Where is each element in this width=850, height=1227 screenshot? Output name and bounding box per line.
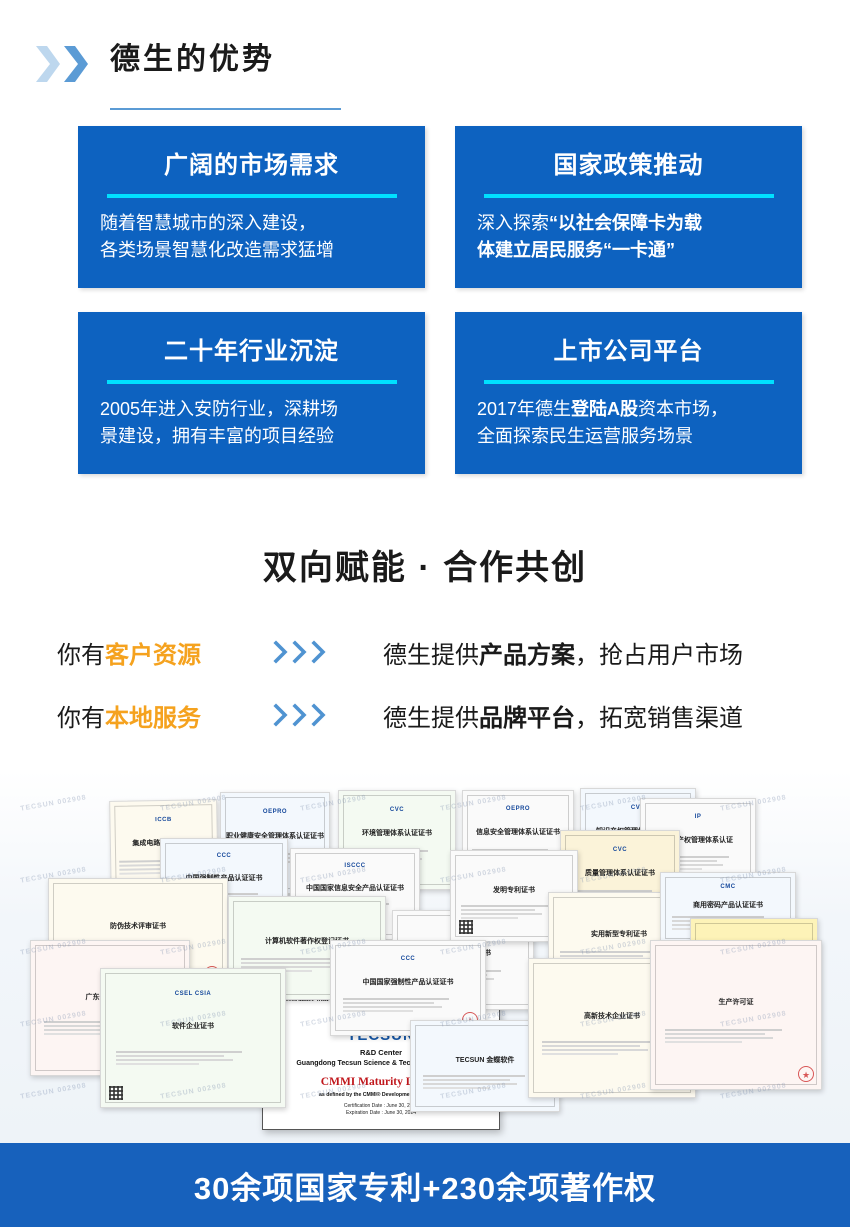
synergy-right-tail: ，拓宽销售渠道 [575,705,743,732]
certificate-body-lines [343,996,472,1014]
advantage-card-market-demand: 广阔的市场需求 随着智慧城市的深入建设， 各类场景智慧化改造需求猛增 [78,126,425,288]
card-body-line-2: 全面探索民生运营服务场景 [477,423,780,450]
certificate-seal-icon [798,1066,814,1082]
advantage-card-listed-company: 上市公司平台 2017年德生登陆A股资本市场， 全面探索民生运营服务场景 [455,312,802,474]
certificate-badge: CVC [390,807,404,813]
certificate-badge: ISCCC [344,863,365,869]
card-divider [484,380,774,384]
card-body-line-2: 体建立居民服务“一卡通” [477,237,780,264]
certificate-item: 生产许可证 [650,940,822,1090]
advantage-card-national-policy: 国家政策推动 深入探索“以社会保障卡为载 体建立居民服务“一卡通” [455,126,802,288]
collage-watermark: TECSUN 002908 [20,1082,87,1101]
certificate-title: 软件企业证书 [101,1021,285,1031]
synergy-left-prefix: 你有 [57,642,105,669]
certificate-body-lines [116,1049,271,1067]
card-body-text-normal: 2017年德生 [477,399,571,419]
card-body: 2005年进入安防行业，深耕场 景建设，拥有丰富的项目经验 [78,396,425,450]
synergy-right-prefix: 德生提供 [383,705,479,732]
synergy-right-prefix: 德生提供 [383,642,479,669]
chevron-right-icon-1 [273,640,289,664]
triple-chevron-icon [245,640,355,664]
chevron-right-icon-3 [311,640,327,664]
certificate-body-lines [665,1027,808,1045]
card-body-line-1: 2005年进入安防行业，深耕场 [100,396,403,423]
card-body-text-normal: 深入探索 [477,213,549,233]
synergy-right-text: 德生提供品牌平台，拓宽销售渠道 [355,698,850,733]
card-title: 上市公司平台 [455,336,802,368]
card-divider [107,380,397,384]
chevron-right-icon-2 [292,640,308,664]
page-title: 德生的优势 [110,40,275,80]
card-title: 广阔的市场需求 [78,150,425,182]
card-body-line-1: 2017年德生登陆A股资本市场， [477,396,780,423]
synergy-right-text: 德生提供产品方案，抢占用户市场 [355,635,850,670]
certificate-title: 环境管理体系认证证书 [339,828,455,838]
card-title: 二十年行业沉淀 [78,336,425,368]
certificate-badge: ICCB [155,817,172,823]
collage-watermark: TECSUN 002908 [20,794,87,813]
chevron-right-icon-3 [311,703,327,727]
certificate-title: 商用密码产品认证证书 [661,900,795,910]
title-underline [110,108,341,110]
card-body: 随着智慧城市的深入建设， 各类场景智慧化改造需求猛增 [78,210,425,264]
certificate-title: 信息安全管理体系认证证书 [463,827,573,837]
card-body-text-tail: 资本市场， [638,399,728,419]
certificate-collage: ICCB集成电路卡认证证书OEPRO职业健康安全管理体系认证证书CVC环境管理体… [0,770,850,1145]
card-body-text-bold: “以社会保障卡为载 [549,213,702,233]
certificate-badge: IP [695,814,702,820]
bottom-banner: 30余项国家专利+230余项著作权 [0,1143,850,1227]
chevron-right-icon-dark [62,44,88,84]
synergy-left-text: 你有本地服务 [0,698,245,733]
certificate-badge: CMC [720,884,735,890]
certificate-qr-code [109,1086,123,1100]
certificate-border [655,945,817,1085]
card-body-line-2: 各类场景智慧化改造需求猛增 [100,237,403,264]
certificate-badge: CVC [613,847,627,853]
card-body: 深入探索“以社会保障卡为载 体建立居民服务“一卡通” [455,210,802,264]
certificate-title: 中国国家信息安全产品认证证书 [291,883,419,893]
triple-chevron-icon [245,703,355,727]
chevron-right-icon-1 [273,703,289,727]
chevron-right-icon-light [34,44,60,84]
card-body-text-bold: 登陆A股 [571,399,638,419]
certificate-item: CSEL CSIA软件企业证书 [100,968,286,1108]
certificate-qr-code [459,920,473,934]
certificate-badge: OEPRO [506,806,530,812]
synergy-right-tail: ，抢占用户市场 [575,642,743,669]
card-title: 国家政策推动 [455,150,802,182]
synergy-row-customer-resource: 你有客户资源 德生提供产品方案，抢占用户市场 [0,630,850,674]
certificate-title: 生产许可证 [651,997,821,1007]
synergy-right-bold: 产品方案 [479,642,575,669]
card-body-line-1: 深入探索“以社会保障卡为载 [477,210,780,237]
card-body-line-1: 随着智慧城市的深入建设， [100,210,403,237]
certificate-badge: CSEL CSIA [175,991,211,997]
card-divider [484,194,774,198]
card-body-line-2: 景建设，拥有丰富的项目经验 [100,423,403,450]
certificate-badge: CCC [401,956,416,962]
certificate-badge: OEPRO [263,809,287,815]
card-divider [107,194,397,198]
synergy-left-text: 你有客户资源 [0,635,245,670]
advantage-cards-grid: 广阔的市场需求 随着智慧城市的深入建设， 各类场景智慧化改造需求猛增 国家政策推… [0,126,850,476]
synergy-left-highlight: 客户资源 [105,642,201,669]
mutual-empowerment-title: 双向赋能 · 合作共创 [0,540,850,589]
advantage-card-industry-experience: 二十年行业沉淀 2005年进入安防行业，深耕场 景建设，拥有丰富的项目经验 [78,312,425,474]
synergy-left-prefix: 你有 [57,705,105,732]
synergy-right-bold: 品牌平台 [479,705,575,732]
synergy-row-local-service: 你有本地服务 德生提供品牌平台，拓宽销售渠道 [0,693,850,737]
card-body: 2017年德生登陆A股资本市场， 全面探索民生运营服务场景 [455,396,802,450]
section-header: 德生的优势 [0,30,850,100]
certificate-title: 防伪技术评审证书 [49,921,227,931]
chevron-arrows-group [34,44,88,84]
card-body-text-bold-2: 体建立居民服务“一卡通” [477,240,675,260]
certificate-title: 中国国家强制性产品认证证书 [331,977,485,987]
certificate-badge: CCC [217,853,232,859]
chevron-right-icon-2 [292,703,308,727]
banner-text: 30余项国家专利+230余项著作权 [194,1163,656,1208]
synergy-left-highlight: 本地服务 [105,705,201,732]
